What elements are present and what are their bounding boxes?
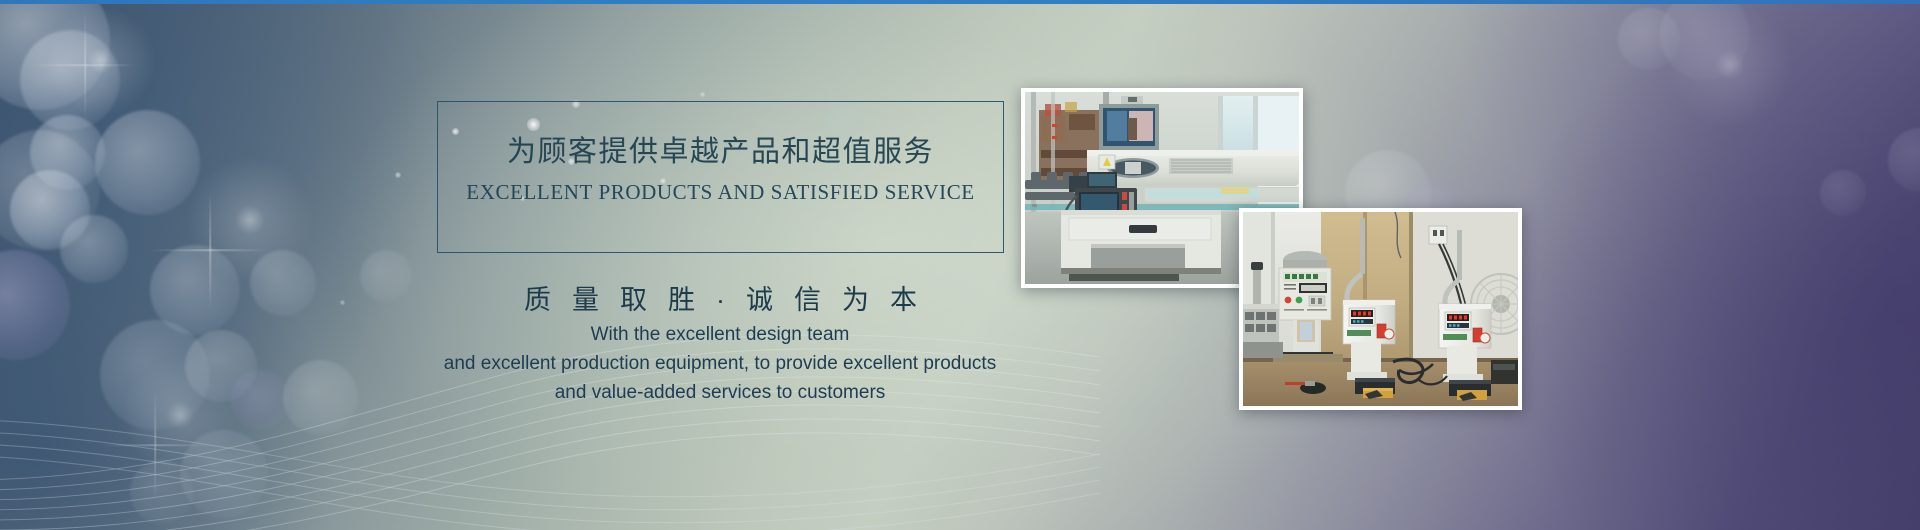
headline-english: EXCELLENT PRODUCTS AND SATISFIED SERVICE (438, 180, 1003, 205)
top-blue-accent-line (0, 0, 1920, 4)
paragraph-line-2: and excellent production equipment, to p… (330, 349, 1110, 378)
promo-banner: 为顾客提供卓越产品和超值服务 EXCELLENT PRODUCTS AND SA… (0, 0, 1920, 530)
company-slogan: 质量取胜·诚信为本 (437, 278, 1004, 317)
banner-text-block: 为顾客提供卓越产品和超值服务 EXCELLENT PRODUCTS AND SA… (0, 0, 1020, 530)
headline-frame: 为顾客提供卓越产品和超值服务 EXCELLENT PRODUCTS AND SA… (437, 101, 1004, 253)
paragraph-line-1: With the excellent design team (330, 320, 1110, 349)
testing-equipment-image (1243, 212, 1518, 406)
description-paragraph: With the excellent design team and excel… (330, 320, 1110, 407)
paragraph-line-3: and value-added services to customers (330, 378, 1110, 407)
testing-equipment-photo (1239, 208, 1522, 410)
headline-chinese: 为顾客提供卓越产品和超值服务 (438, 128, 1003, 170)
